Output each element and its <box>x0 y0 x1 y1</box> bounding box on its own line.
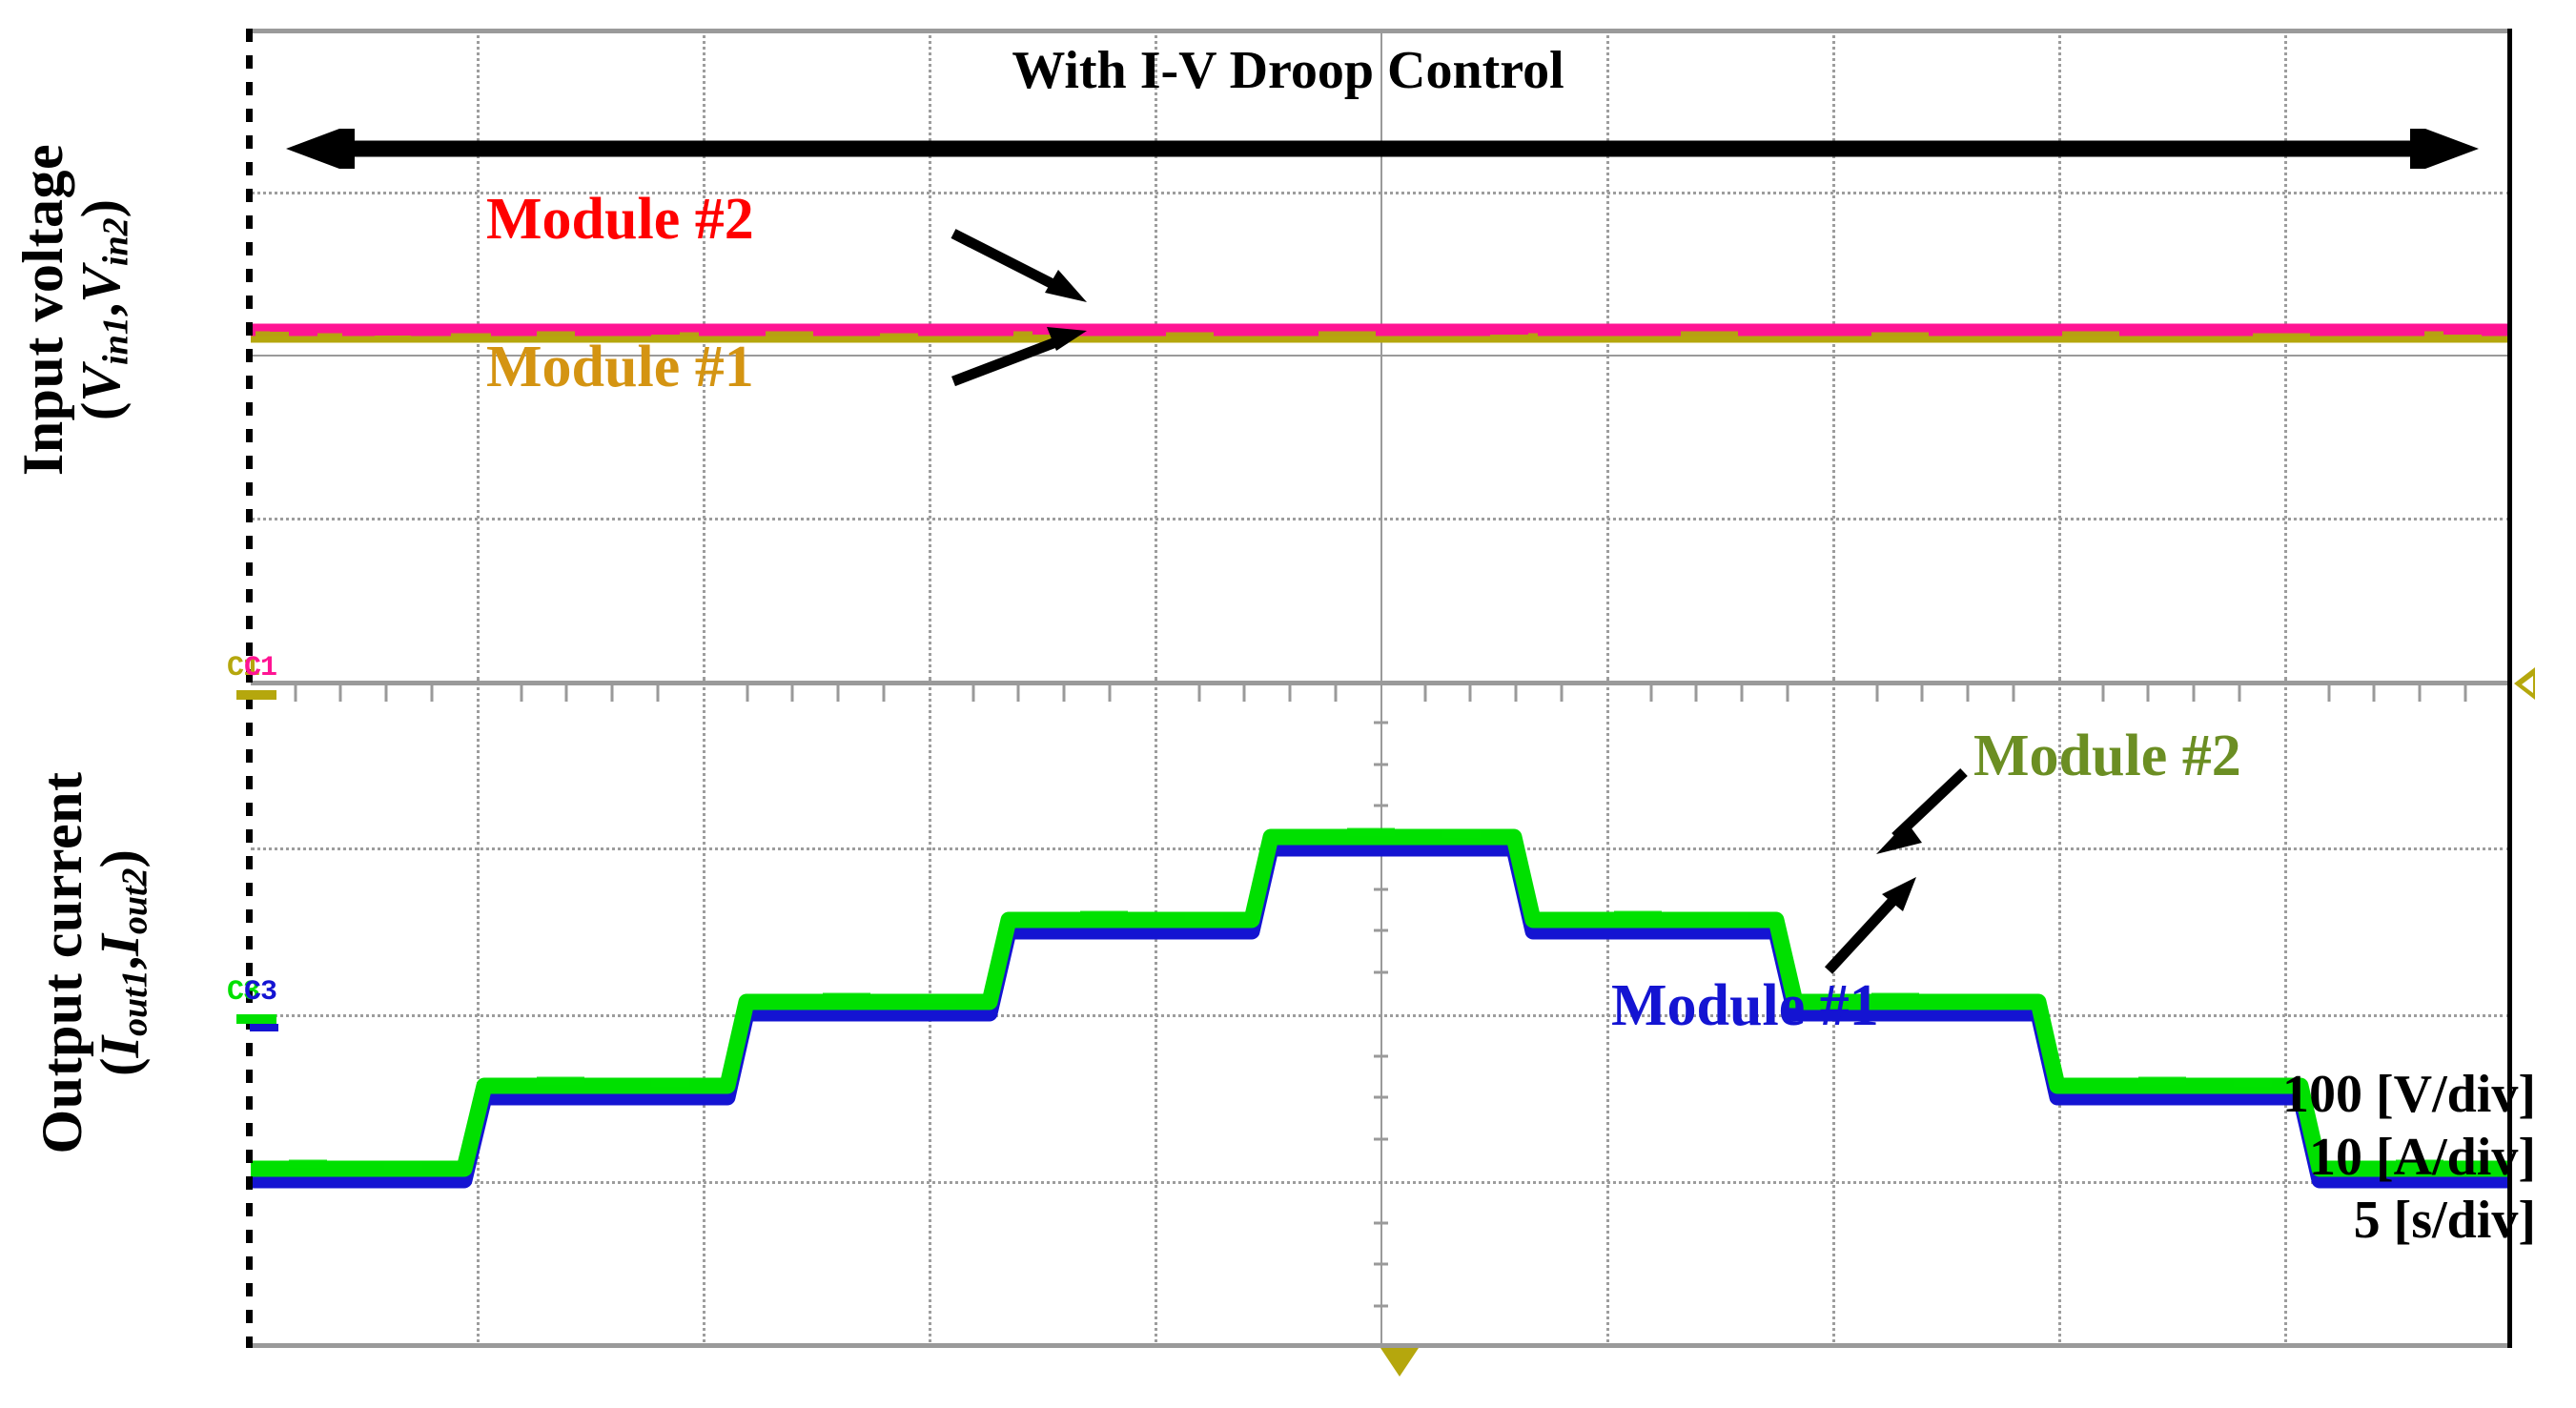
channel-1-marker[interactable]: C1 C1 <box>227 652 259 684</box>
channel-3-level-bar-secondary[interactable] <box>250 1024 278 1031</box>
y-axis-label-line1: Input voltage <box>14 38 72 582</box>
trace-iout2-module2 <box>251 837 2510 1169</box>
y-axis-label-line2: (Iout1,Iout2) <box>92 672 154 1254</box>
label-voltage-module2: Module #2 <box>486 186 754 254</box>
scale-readout: 100 [V/div] 10 [A/div] 5 [s/div] <box>2282 1063 2536 1252</box>
channel-3-overlay-text: C3 <box>244 976 276 1009</box>
label-voltage-module1: Module #1 <box>486 334 754 401</box>
scale-volts-per-div: 100 [V/div] <box>2282 1063 2536 1126</box>
channel-3-level-bar[interactable] <box>236 1014 276 1024</box>
oscilloscope-capture: Input voltage (Vin1,Vin2) Output current… <box>0 0 2576 1408</box>
y-axis-label-line1: Output current <box>33 672 92 1254</box>
channel-1-overlay-text: C1 <box>244 652 276 684</box>
scale-amps-per-div: 10 [A/div] <box>2282 1126 2536 1189</box>
span-double-arrow <box>286 129 2479 169</box>
channel-1-level-bar[interactable] <box>236 690 276 700</box>
trace-iout1-module1 <box>251 848 2510 1180</box>
trigger-position-marker-icon[interactable] <box>1380 1348 1419 1377</box>
left-edge-dashed-line <box>246 29 253 1348</box>
y-axis-label-output-current: Output current (Iout1,Iout2) <box>33 672 157 1254</box>
channel-3-marker[interactable]: C3 C3 <box>227 976 259 1009</box>
label-current-module1: Module #1 <box>1611 972 1879 1040</box>
right-edge-level-marker-inner-icon <box>2522 676 2533 693</box>
label-current-module2: Module #2 <box>1973 723 2241 790</box>
scale-secs-per-div: 5 [s/div] <box>2282 1189 2536 1252</box>
y-axis-label-line2: (Vin1,Vin2) <box>72 38 135 582</box>
plot-title: With I-V Droop Control <box>0 40 2576 101</box>
y-axis-label-input-voltage: Input voltage (Vin1,Vin2) <box>14 38 138 582</box>
